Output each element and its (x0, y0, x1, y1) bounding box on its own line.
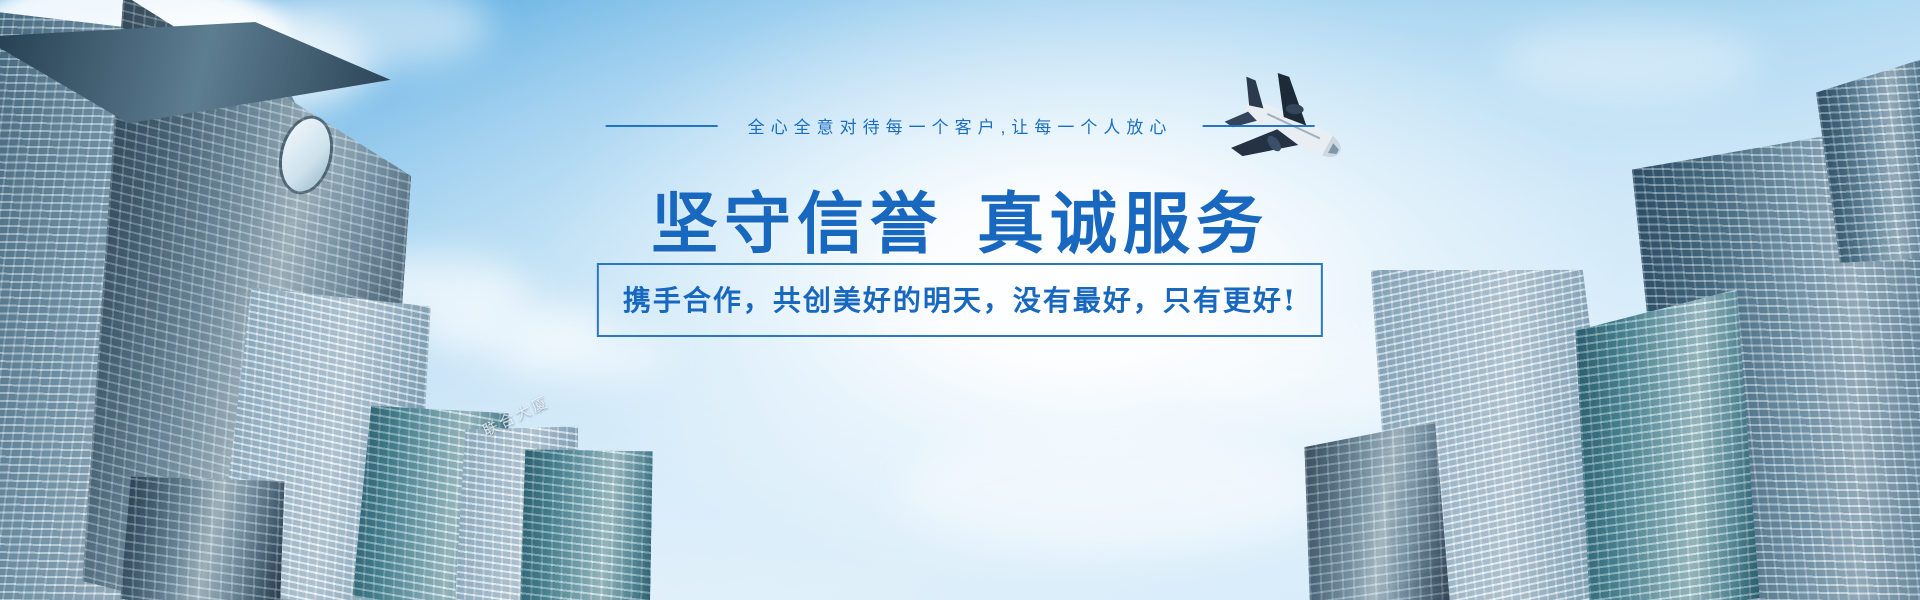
skyscraper-midrise-teal (520, 432, 653, 600)
banner-headline: 坚守信誉真诚服务 (651, 170, 1269, 267)
tagline-row: 全心全意对待每一个客户,让每一个人放心 (606, 113, 1315, 138)
airplane-icon (1222, 68, 1352, 193)
cloud-decoration (500, 330, 670, 380)
headline-part-right: 真诚服务 (977, 184, 1269, 263)
hero-banner: 联合大厦 (0, 0, 1920, 600)
banner-tagline: 全心全意对待每一个客户,让每一个人放心 (748, 113, 1173, 138)
skyscraper-right-fourth (1304, 420, 1450, 600)
skyscraper-left-fifth (120, 459, 284, 600)
banner-subtitle: 携手合作，共创美好的明天，没有最好，只有更好! (623, 284, 1297, 317)
banner-subtitle-box: 携手合作，共创美好的明天，没有最好，只有更好! (597, 263, 1323, 337)
cloud-decoration (1500, 20, 1760, 100)
decorative-rule-left-icon (606, 125, 718, 127)
skyscraper-right-third (1574, 289, 1759, 600)
headline-part-left: 坚守信誉 (651, 184, 943, 263)
cloud-decoration (900, 430, 1320, 550)
